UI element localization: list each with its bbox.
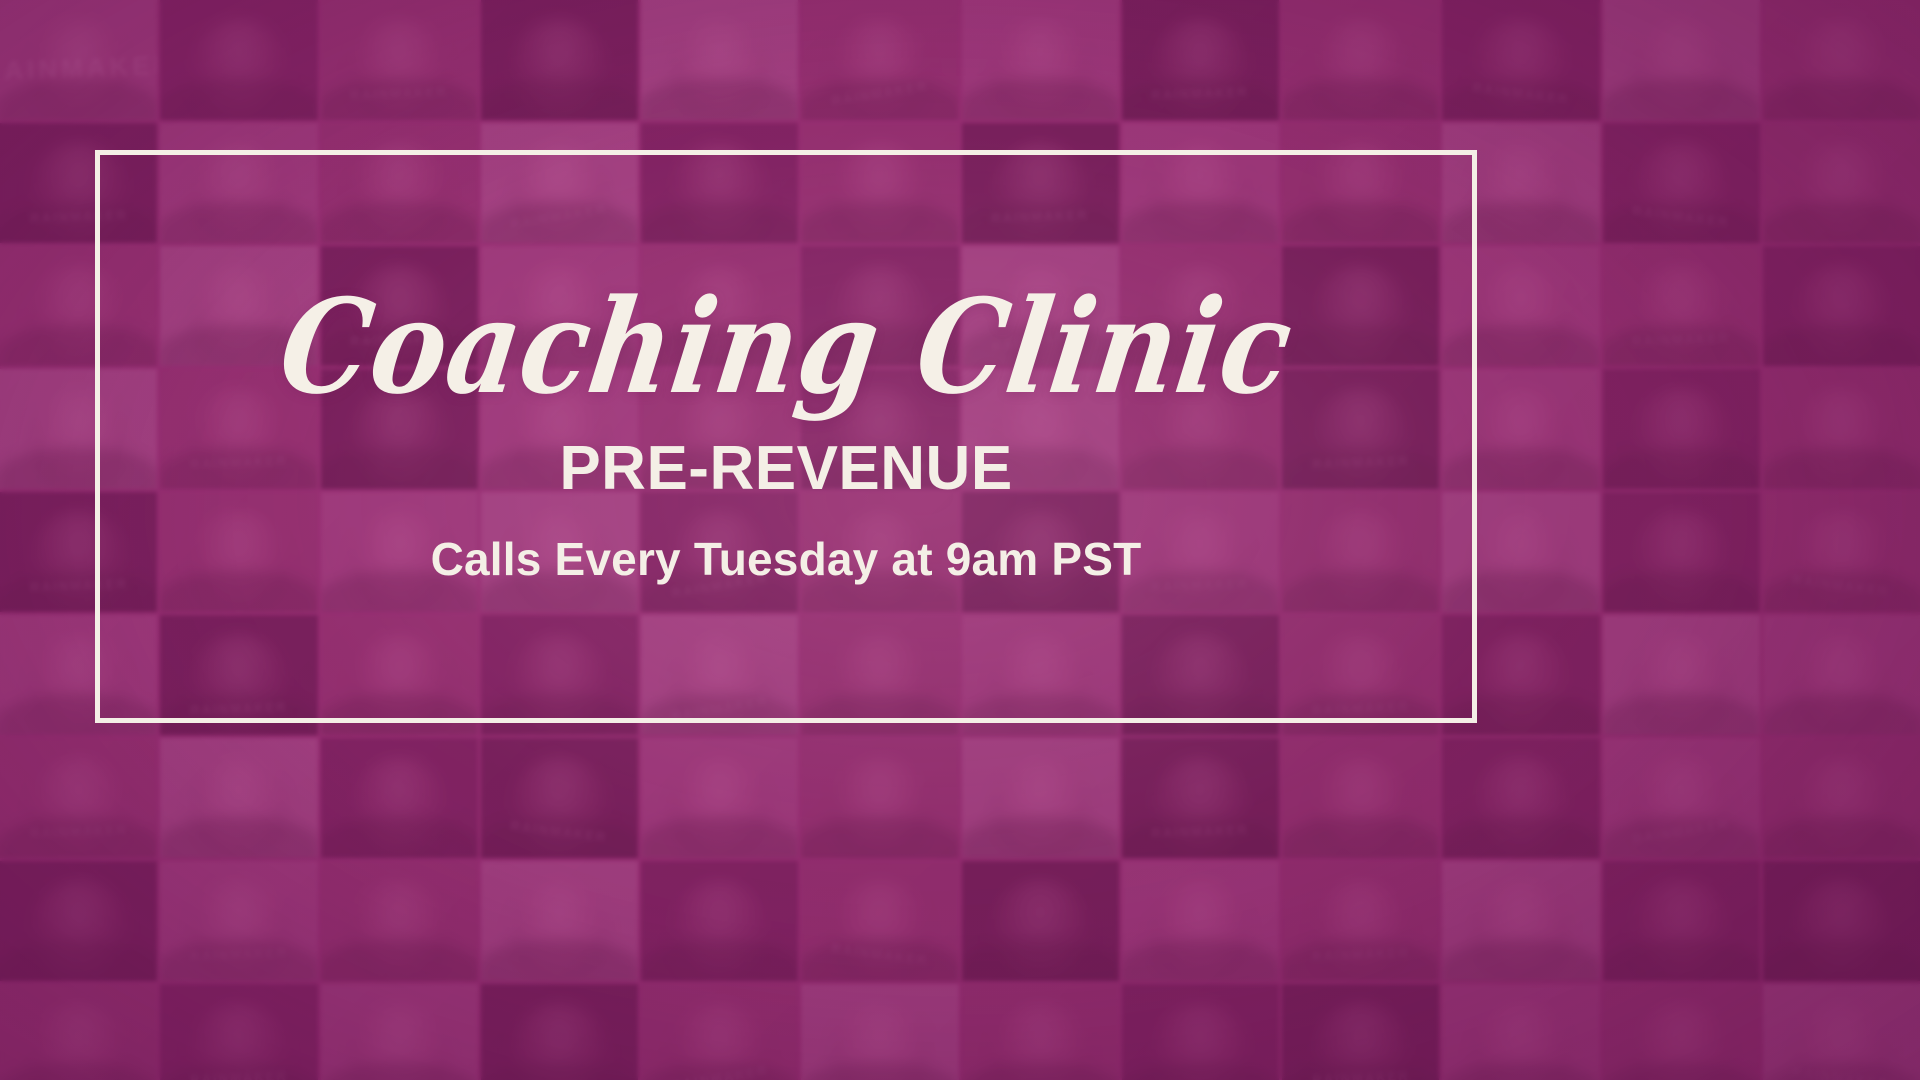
script-title: Coaching Clinic bbox=[272, 282, 1299, 415]
headline: PRE-REVENUE bbox=[559, 438, 1012, 500]
subheadline: Calls Every Tuesday at 9am PST bbox=[431, 536, 1142, 582]
text-content-block: Coaching Clinic PRE-REVENUE Calls Every … bbox=[95, 150, 1477, 723]
promo-slide: RAINMAKER RAINMAKER RAINMAKER RAINMAKER … bbox=[0, 0, 1920, 1080]
